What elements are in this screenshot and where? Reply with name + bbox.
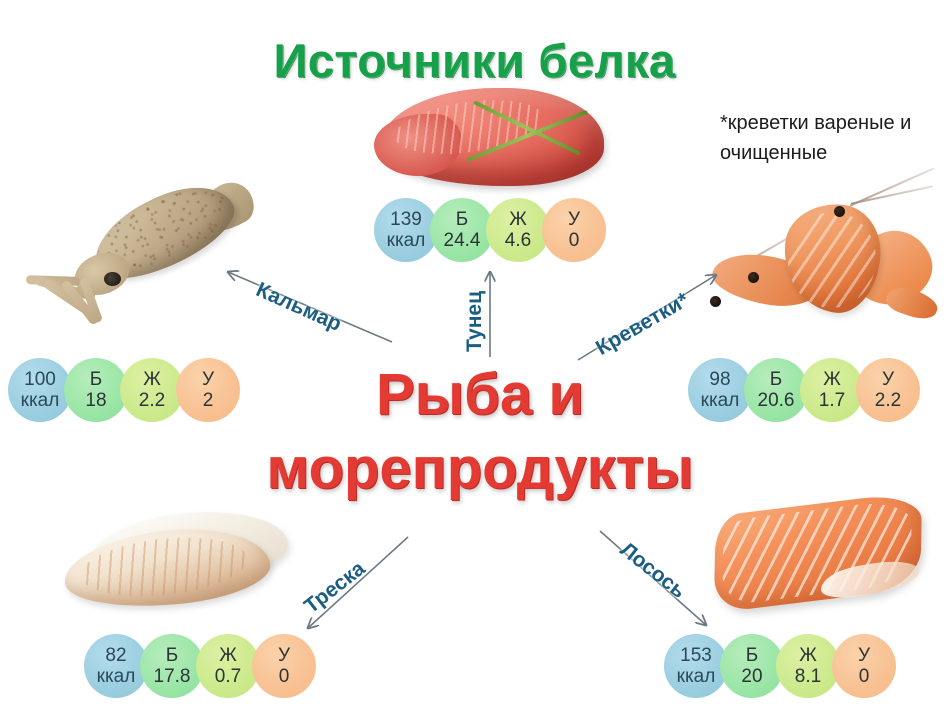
nutrition-group-squid: 100 ккал Б 18 Ж 2.2 У 2 bbox=[8, 358, 240, 422]
protein-circle: Б 20.6 bbox=[744, 358, 808, 422]
calories-circle: 139 ккал bbox=[374, 198, 438, 262]
fat-value: 1.7 bbox=[819, 390, 845, 411]
calories-value: 153 bbox=[680, 645, 712, 666]
carb-label: У bbox=[858, 645, 870, 666]
protein-label: Б bbox=[770, 369, 782, 390]
protein-value: 17.8 bbox=[154, 666, 191, 687]
fat-circle: Ж 1.7 bbox=[800, 358, 864, 422]
fat-circle: Ж 4.6 bbox=[486, 198, 550, 262]
protein-circle: Б 24.4 bbox=[430, 198, 494, 262]
protein-value: 18 bbox=[85, 390, 106, 411]
arrow-label-tuna: Тунец bbox=[463, 291, 487, 352]
protein-label: Б bbox=[746, 645, 758, 666]
fat-label: Ж bbox=[143, 369, 161, 390]
protein-label: Б bbox=[456, 209, 468, 230]
carb-value: 0 bbox=[859, 666, 870, 687]
calories-circle: 98 ккал bbox=[688, 358, 752, 422]
calories-unit: ккал bbox=[387, 230, 426, 251]
protein-circle: Б 20 bbox=[720, 634, 784, 698]
nutrition-group-cod: 82 ккал Б 17.8 Ж 0.7 У 0 bbox=[84, 634, 316, 698]
fat-label: Ж bbox=[219, 645, 237, 666]
infographic-canvas: Источники белка Рыба и морепродукты *кре… bbox=[0, 0, 949, 716]
fat-circle: Ж 0.7 bbox=[196, 634, 260, 698]
carb-circle: У 0 bbox=[252, 634, 316, 698]
calories-circle: 100 ккал bbox=[8, 358, 72, 422]
protein-value: 24.4 bbox=[444, 230, 481, 251]
nutrition-group-salmon: 153 ккал Б 20 Ж 8.1 У 0 bbox=[664, 634, 896, 698]
fat-value: 2.2 bbox=[139, 390, 165, 411]
calories-unit: ккал bbox=[97, 666, 136, 687]
carb-circle: У 2.2 bbox=[856, 358, 920, 422]
fat-circle: Ж 2.2 bbox=[120, 358, 184, 422]
protein-value: 20.6 bbox=[758, 390, 795, 411]
nutrition-group-tuna: 139 ккал Б 24.4 Ж 4.6 У 0 bbox=[374, 198, 606, 262]
calories-circle: 82 ккал bbox=[84, 634, 148, 698]
carb-value: 2.2 bbox=[875, 390, 901, 411]
protein-label: Б bbox=[90, 369, 102, 390]
calories-value: 139 bbox=[390, 209, 422, 230]
protein-value: 20 bbox=[741, 666, 762, 687]
carb-circle: У 0 bbox=[832, 634, 896, 698]
carb-circle: У 0 bbox=[542, 198, 606, 262]
calories-value: 100 bbox=[24, 369, 56, 390]
fat-value: 4.6 bbox=[505, 230, 531, 251]
calories-value: 98 bbox=[709, 369, 730, 390]
protein-circle: Б 18 bbox=[64, 358, 128, 422]
fat-label: Ж bbox=[509, 209, 527, 230]
calories-unit: ккал bbox=[701, 390, 740, 411]
carb-label: У bbox=[882, 369, 894, 390]
carb-value: 0 bbox=[279, 666, 290, 687]
calories-unit: ккал bbox=[677, 666, 716, 687]
carb-value: 2 bbox=[203, 390, 214, 411]
fat-value: 8.1 bbox=[795, 666, 821, 687]
protein-circle: Б 17.8 bbox=[140, 634, 204, 698]
fat-label: Ж bbox=[799, 645, 817, 666]
carb-label: У bbox=[278, 645, 290, 666]
carb-label: У bbox=[202, 369, 214, 390]
calories-unit: ккал bbox=[21, 390, 60, 411]
carb-circle: У 2 bbox=[176, 358, 240, 422]
fat-circle: Ж 8.1 bbox=[776, 634, 840, 698]
carb-value: 0 bbox=[569, 230, 580, 251]
fat-label: Ж bbox=[823, 369, 841, 390]
protein-label: Б bbox=[166, 645, 178, 666]
calories-value: 82 bbox=[105, 645, 126, 666]
calories-circle: 153 ккал bbox=[664, 634, 728, 698]
fat-value: 0.7 bbox=[215, 666, 241, 687]
nutrition-group-shrimp: 98 ккал Б 20.6 Ж 1.7 У 2.2 bbox=[688, 358, 920, 422]
carb-label: У bbox=[568, 209, 580, 230]
